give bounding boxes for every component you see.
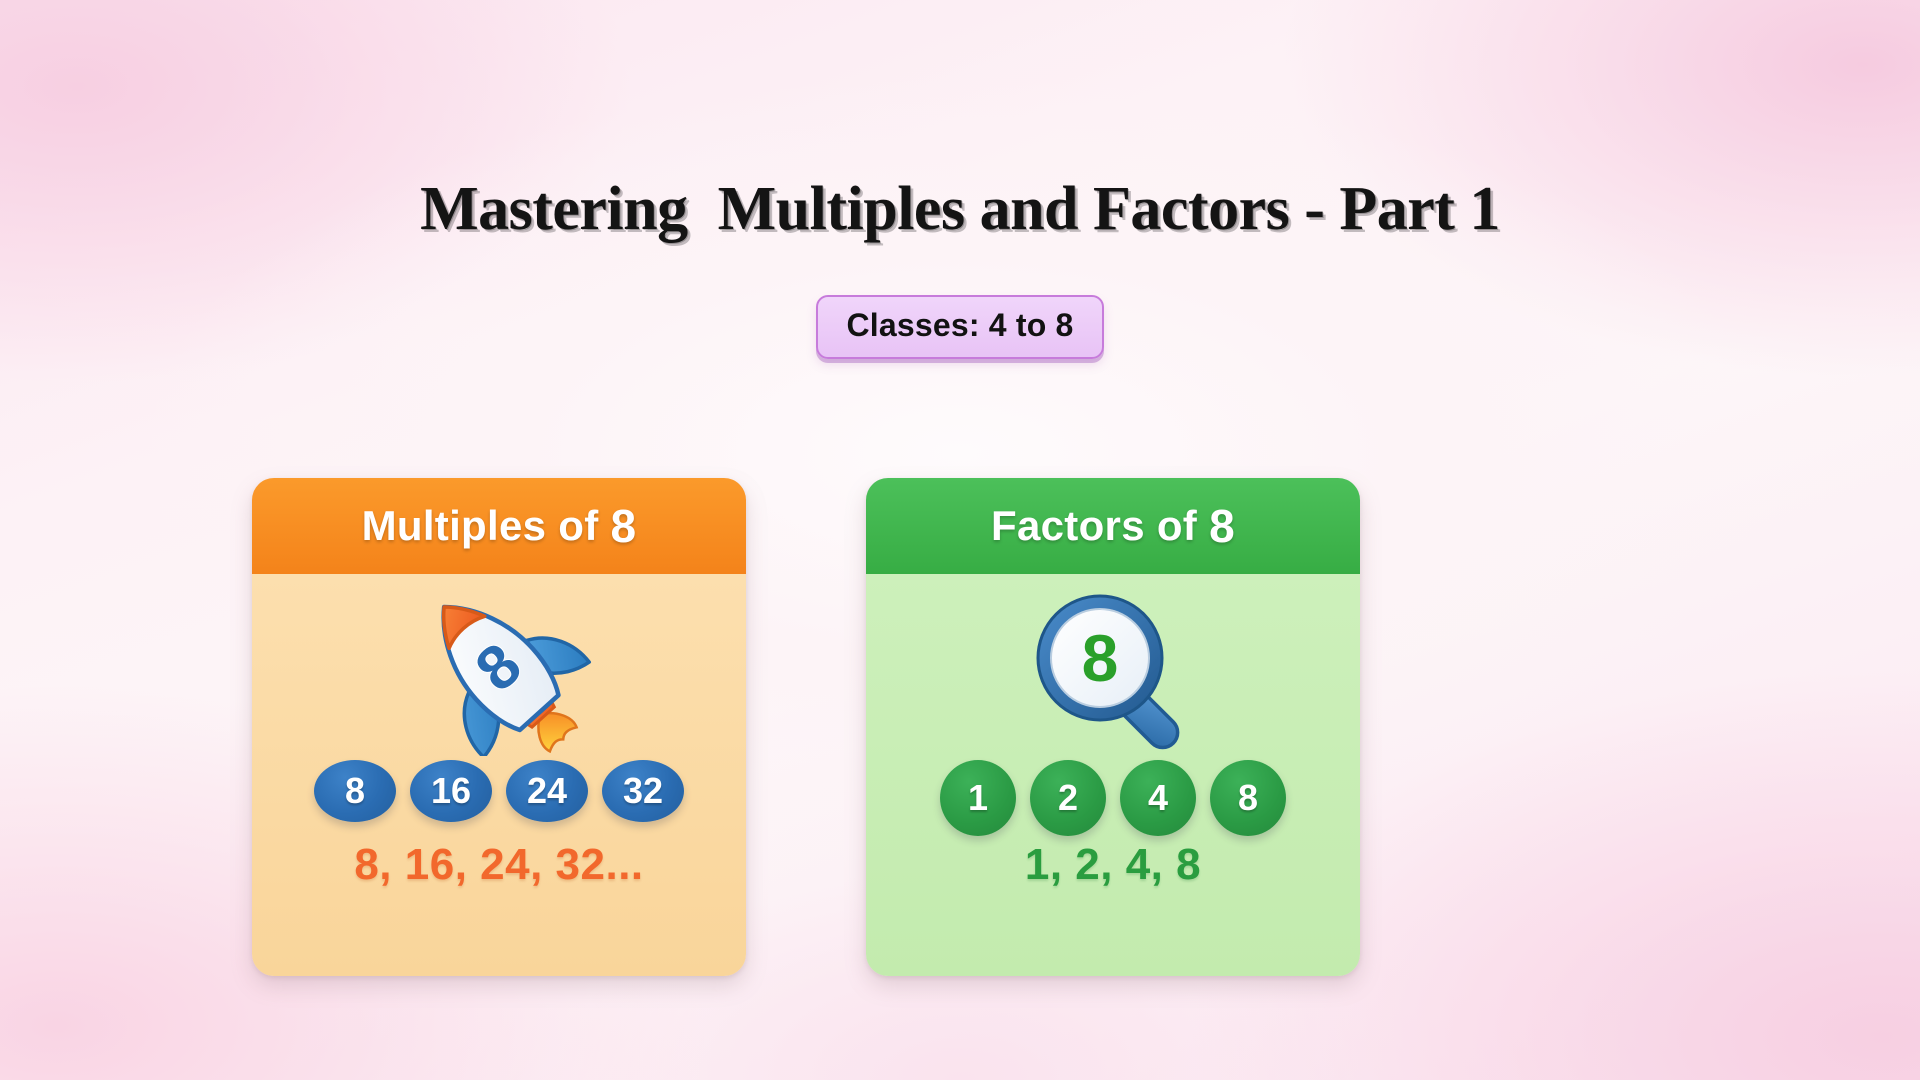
badge-container: Classes: 4 to 8 — [0, 295, 1920, 359]
factors-caption: 1, 2, 4, 8 — [866, 840, 1360, 890]
factor-pill[interactable]: 8 — [1210, 760, 1286, 836]
card-factors[interactable]: Factors of 8 — [866, 478, 1360, 976]
factor-pill[interactable]: 4 — [1120, 760, 1196, 836]
card-multiples-header: Multiples of 8 — [252, 478, 746, 574]
multiple-pill[interactable]: 32 — [602, 760, 684, 822]
magnifying-glass-icon: 8 — [1008, 580, 1218, 756]
multiple-pill[interactable]: 24 — [506, 760, 588, 822]
card-factors-body: 8 1 2 4 8 1, 2, 4, 8 — [866, 574, 1360, 976]
multiples-caption: 8, 16, 24, 32... — [252, 840, 746, 890]
multiples-pill-row: 8 16 24 32 — [252, 760, 746, 822]
card-multiples[interactable]: Multiples of 8 — [252, 478, 746, 976]
rocket-icon: 8 — [394, 580, 604, 756]
slide-canvas: Mastering Multiples and Factors - Part 1… — [0, 0, 1920, 1080]
factor-pill[interactable]: 1 — [940, 760, 1016, 836]
card-multiples-body: 8 8 16 24 32 8, 16, 24, 32... — [252, 574, 746, 976]
factors-pill-row: 1 2 4 8 — [866, 760, 1360, 836]
page-title: Mastering Multiples and Factors - Part 1 — [0, 178, 1920, 240]
multiple-pill[interactable]: 16 — [410, 760, 492, 822]
magnifier-number: 8 — [1082, 621, 1119, 695]
card-multiples-header-label: Multiples of — [362, 502, 599, 550]
magnifier-art-container: 8 — [866, 578, 1360, 758]
rocket-art-container: 8 — [252, 578, 746, 758]
classes-badge: Classes: 4 to 8 — [816, 295, 1103, 359]
card-factors-header-number: 8 — [1209, 499, 1235, 553]
card-multiples-header-number: 8 — [611, 499, 637, 553]
factor-pill[interactable]: 2 — [1030, 760, 1106, 836]
card-factors-header: Factors of 8 — [866, 478, 1360, 574]
multiple-pill[interactable]: 8 — [314, 760, 396, 822]
card-factors-header-label: Factors of — [991, 502, 1197, 550]
